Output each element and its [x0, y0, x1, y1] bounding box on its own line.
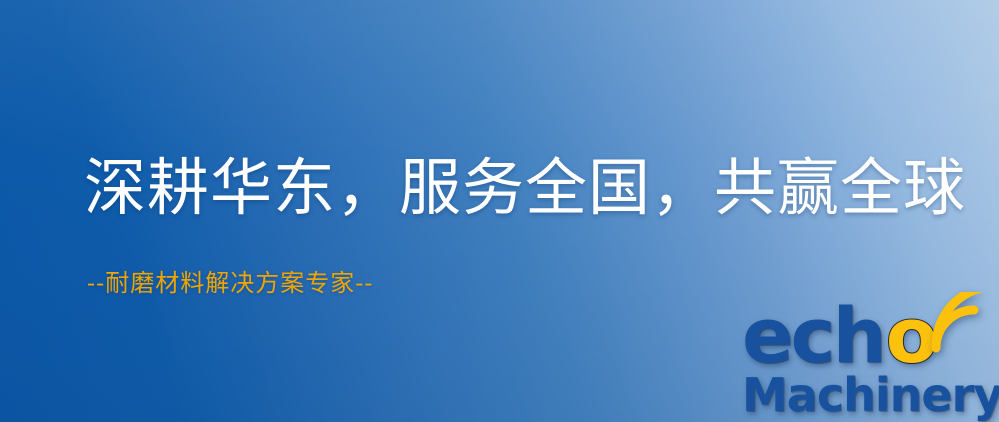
hero-banner: 深耕华东，服务全国，共赢全球 --耐磨材料解决方案专家-- ech o Mach…	[0, 0, 999, 422]
page-subtitle: --耐磨材料解决方案专家--	[87, 268, 373, 298]
brand-logo[interactable]: ech o Machinery ®	[742, 296, 999, 422]
signal-arcs-icon	[930, 292, 999, 354]
logo-wordmark-machinery: Machinery ®	[742, 370, 999, 420]
page-title: 深耕华东，服务全国，共赢全球	[84, 152, 966, 224]
logo-machinery-text: Machinery	[742, 370, 999, 420]
logo-echo-prefix: ech	[742, 298, 884, 374]
logo-echo-accent-o: o	[886, 298, 936, 374]
logo-wordmark-echo: ech o	[742, 296, 936, 374]
